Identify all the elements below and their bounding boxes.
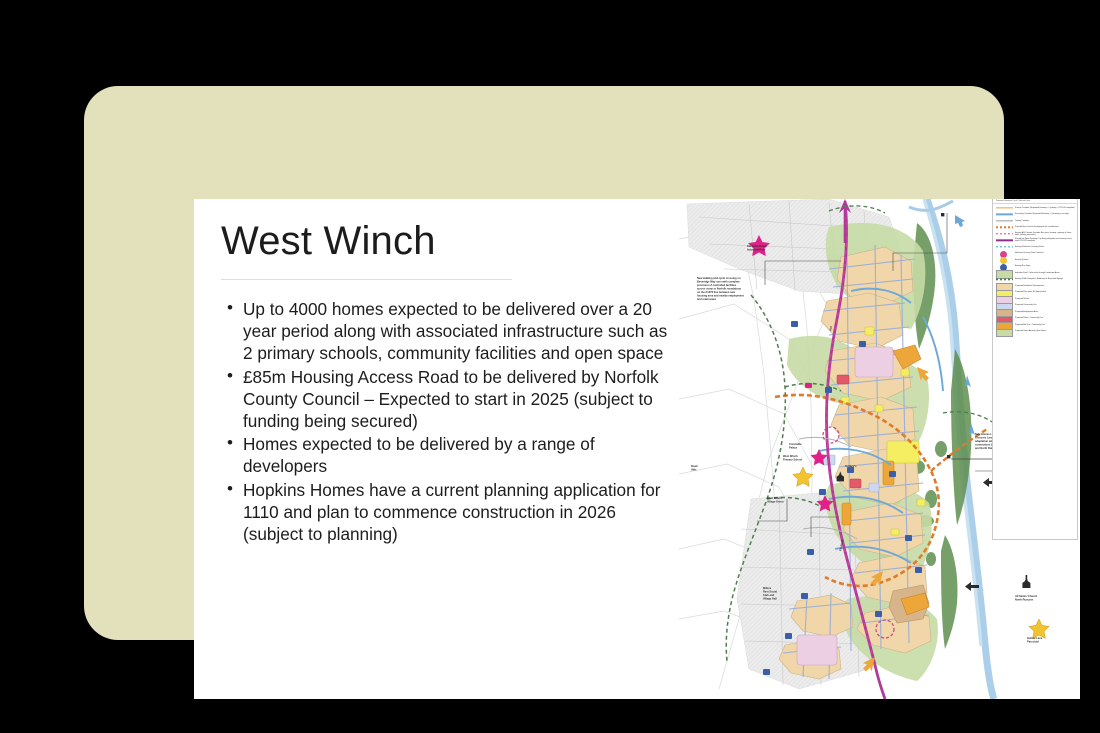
legend-item-label: Existing Public Footpaths, Bridleways & … [1015,278,1063,280]
legend-symbol-icon [996,257,1013,262]
legend-dash-icon [996,231,1013,236]
svg-text:Palace: Palace [789,446,798,450]
legend-item-label: Proposed Residential Development [1015,285,1044,287]
legend-line-icon [996,205,1013,210]
list-item: • Hopkins Homes have a current planning … [222,479,674,546]
svg-text:West Winch: West Winch [767,496,782,500]
svg-text:Club and: Club and [763,593,775,597]
svg-text:housing area and nearby employ: housing area and nearby employment [697,294,744,298]
legend-item-label: Potential Bus Link into Development for … [1015,226,1059,228]
legend-line-icon [996,212,1013,217]
legend-item-label: Primary Corridors (Separated Footway + C… [1015,207,1075,209]
list-item: • Homes expected to be delivered by a ra… [222,433,674,477]
legend-item-label: Proposed School [1015,298,1029,300]
presentation-slide: West Winch • Up to 4000 homes expected t… [194,199,1080,699]
slide-frame: West Winch • Up to 4000 homes expected t… [84,86,1004,640]
legend-item-label: Indicative Foot / Cycle paths through La… [1015,272,1060,274]
bullet-list: • Up to 4000 homes expected to be delive… [222,298,674,546]
legend-item-label: Existing Pedestrian Crossing Points [1015,246,1044,248]
svg-text:Industrial Park: Industrial Park [747,248,766,252]
legend-swatch-icon [996,283,1013,288]
legend-item-label: Proposed Retail - Community Use [1015,317,1043,319]
svg-text:Primary School: Primary School [783,458,802,462]
legend-swatch-icon [996,322,1013,327]
svg-text:Parochial: Parochial [1027,640,1039,644]
bullet-icon: • [227,432,233,454]
legend-line-icon [996,218,1013,223]
map-legend: Proposed Pedestrian / Cycle / Vehicular … [992,199,1078,540]
svg-text:Constable: Constable [789,442,802,446]
svg-text:Hills: Hills [691,468,697,472]
slide-backdrop: West Winch • Up to 4000 homes expected t… [0,0,1100,733]
legend-item-label: Proposed Employment Area [1015,311,1038,313]
list-item-text: Hopkins Homes have a current planning ap… [243,480,661,544]
svg-text:Hardwick Retail: Hardwick Retail [747,244,767,248]
legend-line-icon [996,238,1013,243]
svg-text:St Mary's: St Mary's [845,464,857,468]
legend-swatch-icon [996,329,1013,334]
legend-item-label: Proposed Green Amenity Open Space [1015,330,1046,332]
svg-text:on the A1076 line between new: on the A1076 line between new [697,290,736,294]
svg-text:West Winch: West Winch [783,454,798,458]
bullet-icon: • [227,478,233,500]
svg-text:All Saints' Church: All Saints' Church [1015,594,1038,598]
svg-text:and retail areas: and retail areas [697,297,717,301]
legend-rows: Primary Corridors (Separated Footway + C… [993,204,1077,334]
legend-item-label: Existing Bus Stops [1015,265,1030,267]
svg-text:Hollow Lane: Hollow Lane [1027,636,1043,640]
masterplan-map: Hardwick Retail Industrial Park New walk… [679,199,1080,699]
legend-swatch-icon [996,309,1013,314]
list-item-text: Up to 4000 homes expected to be delivere… [243,299,667,363]
legend-swatch-icon [996,290,1013,295]
legend-item-label: Proposed Mix Use - Community Use [1015,324,1045,326]
svg-text:New walking and cycle crossing: New walking and cycle crossing on [697,276,741,280]
svg-text:Rest Social: Rest Social [763,590,777,594]
legend-item-label: Existing Schools [1015,259,1029,261]
svg-text:Road: Road [691,464,698,468]
list-item: • Up to 4000 homes expected to be delive… [222,298,674,365]
svg-text:provision of controlled facili: provision of controlled facilities [697,283,737,287]
page-title: West Winch [221,219,436,264]
svg-text:North Runcton: North Runcton [1015,598,1034,602]
list-item: • £85m Housing Access Road to be deliver… [222,366,674,433]
proposed-school-parcel [855,347,893,377]
legend-swatch-icon [996,296,1013,301]
legend-item-label: Proposed Community Use [1015,304,1037,306]
legend-item-label: Secondary Corridors (Separated Footway +… [1015,213,1069,215]
legend-item-label: Tertiary Corridors [1015,220,1029,222]
legend-item-label: Shared use Spine Footway / Cycleway alon… [1015,238,1075,242]
svg-text:across some or Norfolk roundab: across some or Norfolk roundabout [697,287,741,291]
title-divider [221,279,512,280]
legend-item: Proposed Green Amenity Open Space [993,328,1077,335]
svg-text:Village Hall: Village Hall [763,597,777,601]
legend-dash-icon [996,244,1013,249]
legend-symbol-icon [996,264,1013,269]
legend-swatch-icon [996,303,1013,308]
svg-text:Millers: Millers [763,586,772,590]
bullet-icon: • [227,365,233,387]
list-item-text: Homes expected to be delivered by a rang… [243,434,595,476]
legend-item-label: Existing A10 Corridor (Includes Bus rout… [1015,232,1075,236]
legend-item-label: Indicative Crossing Point Locations [1015,252,1044,254]
bullet-icon: • [227,297,233,319]
legend-symbol-icon [996,251,1013,256]
legend-dash-icon [996,277,1013,282]
legend-swatch-icon [996,316,1013,321]
legend-item-label: Proposed Play space & Playing Fields [1015,291,1046,293]
legend-swatch-icon [996,270,1013,275]
svg-text:Village Green: Village Green [767,500,784,504]
svg-text:Beveridge Way over with comple: Beveridge Way over with complete [697,280,740,284]
list-item-text: £85m Housing Access Road to be delivered… [243,367,659,431]
legend-dash-icon [996,225,1013,230]
